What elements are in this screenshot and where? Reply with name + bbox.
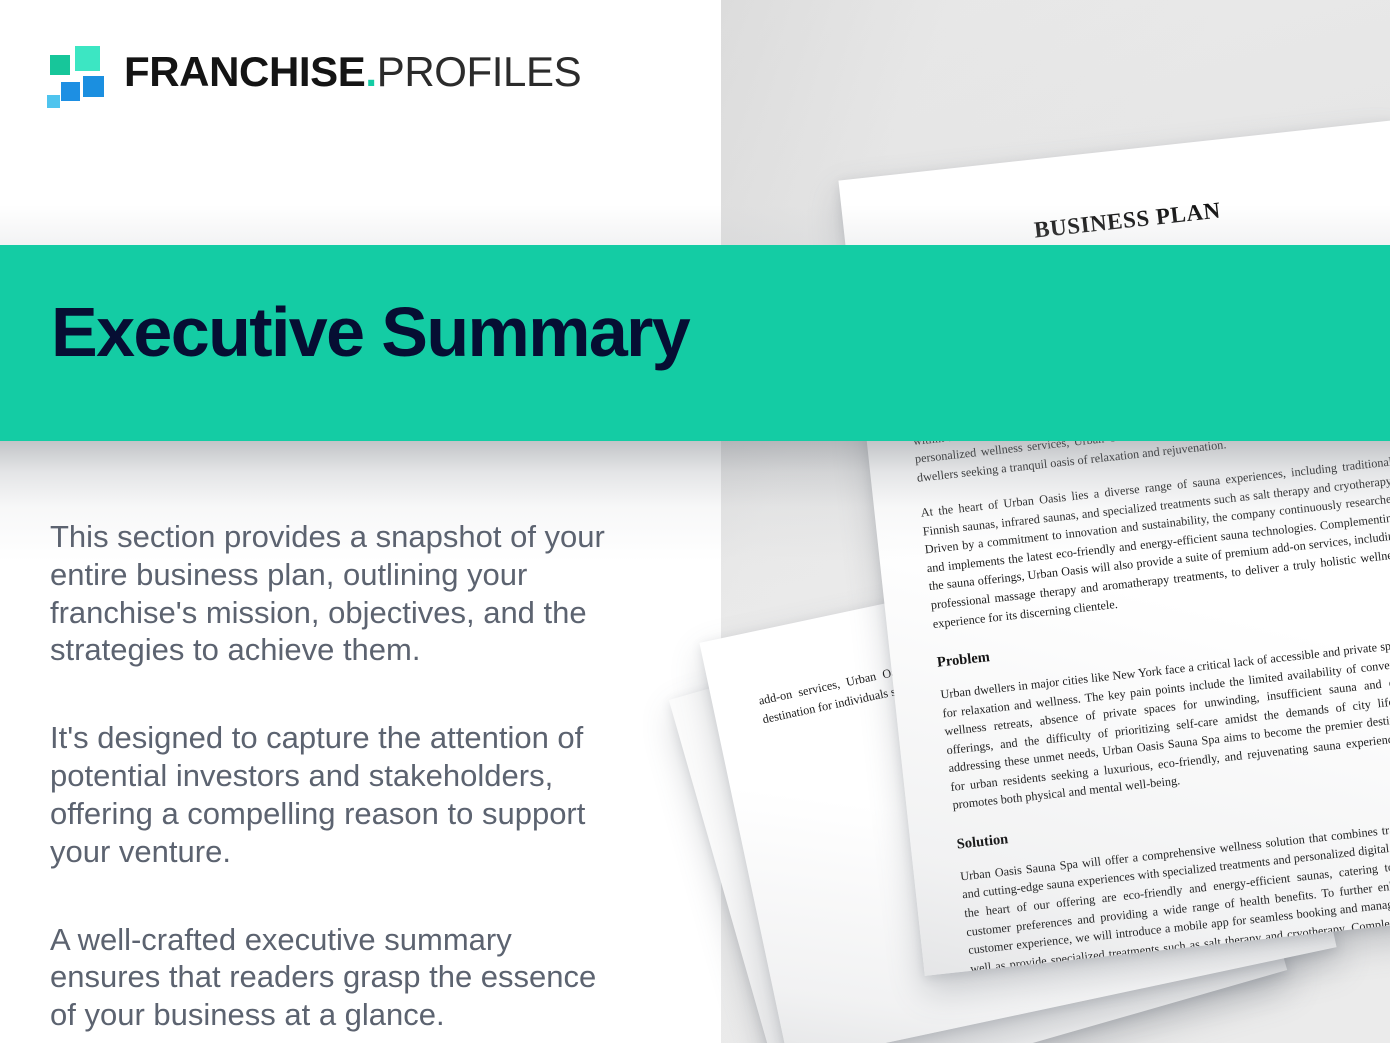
brand-wordmark: FRANCHISE.PROFILES xyxy=(124,51,581,93)
logo-square-blue-large xyxy=(83,76,104,97)
logo-square-teal-mid xyxy=(50,55,70,75)
brand-logo[interactable]: FRANCHISE.PROFILES xyxy=(46,42,581,102)
squares-logo-icon xyxy=(46,44,108,100)
body-paragraph-1: This section provides a snapshot of your… xyxy=(50,518,630,669)
slide-canvas: add-on services, Urban Oasis Sauna Spa w… xyxy=(0,0,1390,1043)
logo-square-mint-large xyxy=(75,46,100,71)
body-paragraph-2: It's designed to capture the attention o… xyxy=(50,719,630,870)
brand-name-light: PROFILES xyxy=(377,48,582,95)
document-subsection-problem: Problem Urban dwellers in major cities l… xyxy=(936,604,1390,815)
body-copy: This section provides a snapshot of your… xyxy=(50,518,630,1034)
band-top-shadow xyxy=(0,205,1390,245)
body-paragraph-3: A well-crafted executive summary ensures… xyxy=(50,921,630,1034)
logo-square-blue-mid xyxy=(61,82,80,101)
page-title: Executive Summary xyxy=(51,297,689,367)
brand-name-bold: FRANCHISE xyxy=(124,48,365,95)
logo-square-lightblue-small xyxy=(47,95,60,108)
brand-name-dot: . xyxy=(365,48,376,95)
